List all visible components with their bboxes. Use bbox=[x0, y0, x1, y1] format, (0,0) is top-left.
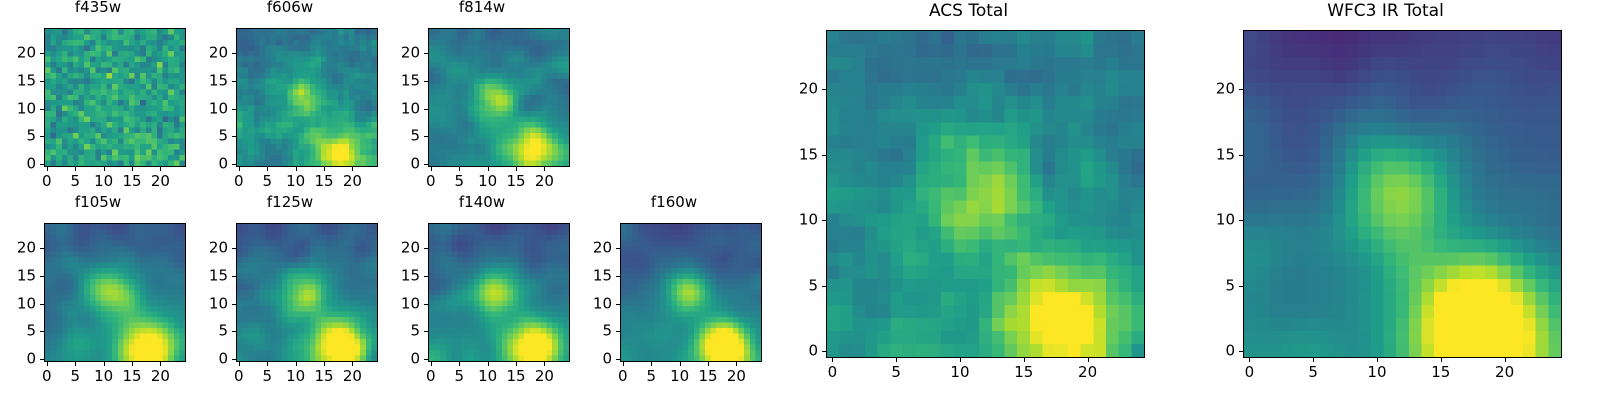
x-tick-f140w-0 bbox=[431, 362, 432, 366]
y-tick-f814w-4 bbox=[424, 53, 428, 54]
y-tick-f435w-0 bbox=[40, 164, 44, 165]
x-tick-f606w-3 bbox=[324, 167, 325, 171]
x-tick-label-f606w-4: 20 bbox=[343, 174, 362, 189]
x-tick-label-f125w-0: 0 bbox=[234, 369, 244, 384]
heatmap-f160w bbox=[620, 223, 762, 362]
x-tick-f160w-3 bbox=[708, 362, 709, 366]
y-tick-f606w-2 bbox=[232, 109, 236, 110]
y-tick-f435w-1 bbox=[40, 136, 44, 137]
y-tick-label-f606w-4: 20 bbox=[192, 46, 228, 61]
y-tick-f125w-3 bbox=[232, 276, 236, 277]
heatmap-acs-total bbox=[826, 30, 1145, 358]
x-tick-wfc3-ir-total-3 bbox=[1441, 358, 1442, 362]
y-tick-label-f140w-1: 5 bbox=[384, 324, 420, 339]
x-tick-f105w-3 bbox=[132, 362, 133, 366]
x-tick-f814w-0 bbox=[431, 167, 432, 171]
heatmap-f435w bbox=[44, 28, 186, 167]
y-tick-label-f160w-2: 10 bbox=[576, 296, 612, 311]
x-tick-label-f125w-4: 20 bbox=[343, 369, 362, 384]
x-tick-label-f160w-1: 5 bbox=[646, 369, 656, 384]
y-tick-wfc3-ir-total-0 bbox=[1239, 351, 1243, 352]
y-tick-label-acs-total-3: 15 bbox=[782, 147, 818, 162]
y-tick-label-acs-total-0: 0 bbox=[782, 344, 818, 359]
x-tick-f125w-4 bbox=[352, 362, 353, 366]
x-tick-f105w-0 bbox=[47, 362, 48, 366]
x-tick-label-f435w-0: 0 bbox=[42, 174, 52, 189]
y-tick-acs-total-0 bbox=[822, 351, 826, 352]
panel-f814w: f814w0510152005101520 bbox=[384, 0, 580, 207]
heatmap-canvas-f160w bbox=[621, 224, 761, 361]
x-tick-label-f105w-0: 0 bbox=[42, 369, 52, 384]
x-tick-f435w-3 bbox=[132, 167, 133, 171]
y-tick-f125w-2 bbox=[232, 304, 236, 305]
y-tick-f606w-0 bbox=[232, 164, 236, 165]
x-tick-label-f606w-0: 0 bbox=[234, 174, 244, 189]
x-tick-label-f435w-4: 20 bbox=[151, 174, 170, 189]
y-tick-label-wfc3-ir-total-0: 0 bbox=[1199, 344, 1235, 359]
x-tick-f435w-0 bbox=[47, 167, 48, 171]
y-tick-f814w-0 bbox=[424, 164, 428, 165]
y-tick-label-f140w-4: 20 bbox=[384, 241, 420, 256]
y-tick-acs-total-4 bbox=[822, 89, 826, 90]
y-tick-label-wfc3-ir-total-3: 15 bbox=[1199, 147, 1235, 162]
panel-title-f814w: f814w bbox=[384, 0, 580, 15]
x-tick-label-acs-total-0: 0 bbox=[828, 365, 838, 380]
y-tick-f105w-0 bbox=[40, 359, 44, 360]
x-tick-label-f814w-0: 0 bbox=[426, 174, 436, 189]
y-tick-label-f435w-4: 20 bbox=[0, 46, 36, 61]
x-tick-f105w-1 bbox=[75, 362, 76, 366]
y-tick-f140w-2 bbox=[424, 304, 428, 305]
heatmap-wfc3-ir-total bbox=[1243, 30, 1562, 358]
heatmap-f814w bbox=[428, 28, 570, 167]
y-tick-label-f125w-0: 0 bbox=[192, 352, 228, 367]
x-tick-f160w-2 bbox=[680, 362, 681, 366]
x-tick-f814w-3 bbox=[516, 167, 517, 171]
x-tick-f435w-2 bbox=[104, 167, 105, 171]
x-tick-f814w-1 bbox=[459, 167, 460, 171]
y-tick-f160w-1 bbox=[616, 331, 620, 332]
y-tick-f140w-0 bbox=[424, 359, 428, 360]
x-tick-f606w-2 bbox=[296, 167, 297, 171]
heatmap-canvas-f105w bbox=[45, 224, 185, 361]
y-tick-f105w-1 bbox=[40, 331, 44, 332]
x-tick-f606w-0 bbox=[239, 167, 240, 171]
x-tick-f125w-1 bbox=[267, 362, 268, 366]
panel-title-f435w: f435w bbox=[0, 0, 196, 15]
heatmap-canvas-wfc3-ir-total bbox=[1244, 31, 1561, 357]
y-tick-label-f105w-1: 5 bbox=[0, 324, 36, 339]
x-tick-acs-total-3 bbox=[1024, 358, 1025, 362]
heatmap-f140w bbox=[428, 223, 570, 362]
panel-f606w: f606w0510152005101520 bbox=[192, 0, 388, 207]
y-tick-label-wfc3-ir-total-1: 5 bbox=[1199, 278, 1235, 293]
x-tick-label-f125w-1: 5 bbox=[262, 369, 272, 384]
y-tick-f160w-2 bbox=[616, 304, 620, 305]
x-tick-label-acs-total-4: 20 bbox=[1078, 365, 1097, 380]
x-tick-label-f160w-4: 20 bbox=[727, 369, 746, 384]
x-tick-label-f125w-2: 10 bbox=[286, 369, 305, 384]
y-tick-f435w-4 bbox=[40, 53, 44, 54]
y-tick-acs-total-3 bbox=[822, 155, 826, 156]
y-tick-label-acs-total-1: 5 bbox=[782, 278, 818, 293]
x-tick-f435w-1 bbox=[75, 167, 76, 171]
x-tick-label-acs-total-3: 15 bbox=[1014, 365, 1033, 380]
panel-f140w: f140w0510152005101520 bbox=[384, 193, 580, 402]
heatmap-canvas-f814w bbox=[429, 29, 569, 166]
x-tick-label-wfc3-ir-total-3: 15 bbox=[1431, 365, 1450, 380]
heatmap-f105w bbox=[44, 223, 186, 362]
x-tick-label-acs-total-2: 10 bbox=[950, 365, 969, 380]
x-tick-label-f814w-3: 15 bbox=[506, 174, 525, 189]
y-tick-f606w-3 bbox=[232, 81, 236, 82]
x-tick-f814w-4 bbox=[544, 167, 545, 171]
y-tick-f435w-2 bbox=[40, 109, 44, 110]
x-tick-label-f606w-3: 15 bbox=[314, 174, 333, 189]
x-tick-wfc3-ir-total-4 bbox=[1505, 358, 1506, 362]
panel-title-f125w: f125w bbox=[192, 195, 388, 210]
x-tick-label-f140w-4: 20 bbox=[535, 369, 554, 384]
y-tick-f160w-0 bbox=[616, 359, 620, 360]
x-tick-label-wfc3-ir-total-0: 0 bbox=[1245, 365, 1255, 380]
y-tick-f160w-3 bbox=[616, 276, 620, 277]
x-tick-acs-total-1 bbox=[896, 358, 897, 362]
x-tick-label-f160w-0: 0 bbox=[618, 369, 628, 384]
y-tick-label-f105w-4: 20 bbox=[0, 241, 36, 256]
y-tick-label-f160w-0: 0 bbox=[576, 352, 612, 367]
y-tick-label-f606w-3: 15 bbox=[192, 73, 228, 88]
x-tick-f105w-2 bbox=[104, 362, 105, 366]
y-tick-label-f140w-2: 10 bbox=[384, 296, 420, 311]
y-tick-label-f814w-0: 0 bbox=[384, 157, 420, 172]
x-tick-acs-total-2 bbox=[960, 358, 961, 362]
x-tick-f140w-1 bbox=[459, 362, 460, 366]
y-tick-f125w-0 bbox=[232, 359, 236, 360]
x-tick-label-f125w-3: 15 bbox=[314, 369, 333, 384]
y-tick-label-f435w-0: 0 bbox=[0, 157, 36, 172]
x-tick-f160w-0 bbox=[623, 362, 624, 366]
y-tick-label-wfc3-ir-total-2: 10 bbox=[1199, 213, 1235, 228]
x-tick-f160w-4 bbox=[736, 362, 737, 366]
panel-title-f606w: f606w bbox=[192, 0, 388, 15]
y-tick-label-f435w-1: 5 bbox=[0, 129, 36, 144]
x-tick-label-f140w-3: 15 bbox=[506, 369, 525, 384]
y-tick-f606w-4 bbox=[232, 53, 236, 54]
x-tick-label-f140w-0: 0 bbox=[426, 369, 436, 384]
y-tick-f140w-3 bbox=[424, 276, 428, 277]
heatmap-canvas-f140w bbox=[429, 224, 569, 361]
x-tick-f606w-4 bbox=[352, 167, 353, 171]
y-tick-label-f105w-3: 15 bbox=[0, 268, 36, 283]
y-tick-label-f160w-4: 20 bbox=[576, 241, 612, 256]
panel-title-wfc3-ir-total: WFC3 IR Total bbox=[1199, 3, 1572, 20]
y-tick-label-f606w-1: 5 bbox=[192, 129, 228, 144]
x-tick-label-wfc3-ir-total-4: 20 bbox=[1495, 365, 1514, 380]
x-tick-label-wfc3-ir-total-1: 5 bbox=[1308, 365, 1318, 380]
x-tick-label-f105w-4: 20 bbox=[151, 369, 170, 384]
y-tick-acs-total-1 bbox=[822, 286, 826, 287]
y-tick-label-f125w-1: 5 bbox=[192, 324, 228, 339]
panel-wfc3-ir-total: WFC3 IR Total0510152005101520 bbox=[1199, 0, 1572, 398]
y-tick-label-wfc3-ir-total-4: 20 bbox=[1199, 82, 1235, 97]
y-tick-label-f814w-1: 5 bbox=[384, 129, 420, 144]
y-tick-f105w-4 bbox=[40, 248, 44, 249]
x-tick-label-f105w-1: 5 bbox=[70, 369, 80, 384]
x-tick-f814w-2 bbox=[488, 167, 489, 171]
x-tick-wfc3-ir-total-2 bbox=[1377, 358, 1378, 362]
x-tick-acs-total-0 bbox=[832, 358, 833, 362]
y-tick-label-acs-total-2: 10 bbox=[782, 213, 818, 228]
x-tick-label-acs-total-1: 5 bbox=[891, 365, 901, 380]
panel-f105w: f105w0510152005101520 bbox=[0, 193, 196, 402]
x-tick-f160w-1 bbox=[651, 362, 652, 366]
y-tick-f125w-1 bbox=[232, 331, 236, 332]
x-tick-label-f160w-2: 10 bbox=[670, 369, 689, 384]
y-tick-f105w-2 bbox=[40, 304, 44, 305]
x-tick-label-f606w-1: 5 bbox=[262, 174, 272, 189]
x-tick-f125w-0 bbox=[239, 362, 240, 366]
y-tick-f814w-3 bbox=[424, 81, 428, 82]
y-tick-label-acs-total-4: 20 bbox=[782, 82, 818, 97]
y-tick-label-f125w-3: 15 bbox=[192, 268, 228, 283]
x-tick-label-f435w-2: 10 bbox=[94, 174, 113, 189]
heatmap-canvas-acs-total bbox=[827, 31, 1144, 357]
y-tick-label-f105w-0: 0 bbox=[0, 352, 36, 367]
y-tick-label-f814w-2: 10 bbox=[384, 101, 420, 116]
panel-f435w: f435w0510152005101520 bbox=[0, 0, 196, 207]
y-tick-label-f160w-1: 5 bbox=[576, 324, 612, 339]
y-tick-label-f105w-2: 10 bbox=[0, 296, 36, 311]
x-tick-wfc3-ir-total-0 bbox=[1249, 358, 1250, 362]
panel-f125w: f125w0510152005101520 bbox=[192, 193, 388, 402]
x-tick-label-f140w-2: 10 bbox=[478, 369, 497, 384]
x-tick-label-f606w-2: 10 bbox=[286, 174, 305, 189]
y-tick-label-f125w-2: 10 bbox=[192, 296, 228, 311]
y-tick-f125w-4 bbox=[232, 248, 236, 249]
heatmap-canvas-f606w bbox=[237, 29, 377, 166]
x-tick-f125w-2 bbox=[296, 362, 297, 366]
x-tick-f140w-2 bbox=[488, 362, 489, 366]
y-tick-label-f606w-2: 10 bbox=[192, 101, 228, 116]
y-tick-f105w-3 bbox=[40, 276, 44, 277]
x-tick-label-f105w-2: 10 bbox=[94, 369, 113, 384]
x-tick-label-f140w-1: 5 bbox=[454, 369, 464, 384]
y-tick-label-f814w-4: 20 bbox=[384, 46, 420, 61]
heatmap-canvas-f125w bbox=[237, 224, 377, 361]
heatmap-canvas-f435w bbox=[45, 29, 185, 166]
x-tick-label-f435w-3: 15 bbox=[122, 174, 141, 189]
x-tick-label-f814w-2: 10 bbox=[478, 174, 497, 189]
x-tick-label-f814w-1: 5 bbox=[454, 174, 464, 189]
y-tick-label-f435w-3: 15 bbox=[0, 73, 36, 88]
y-tick-label-f160w-3: 15 bbox=[576, 268, 612, 283]
y-tick-wfc3-ir-total-3 bbox=[1239, 155, 1243, 156]
y-tick-f814w-1 bbox=[424, 136, 428, 137]
y-tick-acs-total-2 bbox=[822, 220, 826, 221]
x-tick-f125w-3 bbox=[324, 362, 325, 366]
x-tick-f140w-3 bbox=[516, 362, 517, 366]
y-tick-wfc3-ir-total-2 bbox=[1239, 220, 1243, 221]
y-tick-label-f814w-3: 15 bbox=[384, 73, 420, 88]
x-tick-acs-total-4 bbox=[1088, 358, 1089, 362]
panel-f160w: f160w0510152005101520 bbox=[576, 193, 772, 402]
x-tick-label-f435w-1: 5 bbox=[70, 174, 80, 189]
y-tick-f814w-2 bbox=[424, 109, 428, 110]
y-tick-label-f140w-3: 15 bbox=[384, 268, 420, 283]
x-tick-f606w-1 bbox=[267, 167, 268, 171]
y-tick-f606w-1 bbox=[232, 136, 236, 137]
y-tick-label-f435w-2: 10 bbox=[0, 101, 36, 116]
y-tick-f435w-3 bbox=[40, 81, 44, 82]
y-tick-wfc3-ir-total-4 bbox=[1239, 89, 1243, 90]
panel-acs-total: ACS Total0510152005101520 bbox=[782, 0, 1155, 398]
y-tick-wfc3-ir-total-1 bbox=[1239, 286, 1243, 287]
x-tick-label-f105w-3: 15 bbox=[122, 369, 141, 384]
panel-title-f105w: f105w bbox=[0, 195, 196, 210]
x-tick-f105w-4 bbox=[160, 362, 161, 366]
x-tick-label-f160w-3: 15 bbox=[698, 369, 717, 384]
y-tick-label-f140w-0: 0 bbox=[384, 352, 420, 367]
panel-title-acs-total: ACS Total bbox=[782, 3, 1155, 20]
heatmap-f125w bbox=[236, 223, 378, 362]
y-tick-f140w-1 bbox=[424, 331, 428, 332]
heatmap-f606w bbox=[236, 28, 378, 167]
x-tick-label-f814w-4: 20 bbox=[535, 174, 554, 189]
y-tick-label-f125w-4: 20 bbox=[192, 241, 228, 256]
x-tick-label-wfc3-ir-total-2: 10 bbox=[1367, 365, 1386, 380]
figure-canvas: f435w0510152005101520f606w05101520051015… bbox=[0, 0, 1600, 400]
panel-title-f160w: f160w bbox=[576, 195, 772, 210]
x-tick-wfc3-ir-total-1 bbox=[1313, 358, 1314, 362]
y-tick-f140w-4 bbox=[424, 248, 428, 249]
x-tick-f140w-4 bbox=[544, 362, 545, 366]
x-tick-f435w-4 bbox=[160, 167, 161, 171]
y-tick-f160w-4 bbox=[616, 248, 620, 249]
panel-title-f140w: f140w bbox=[384, 195, 580, 210]
y-tick-label-f606w-0: 0 bbox=[192, 157, 228, 172]
